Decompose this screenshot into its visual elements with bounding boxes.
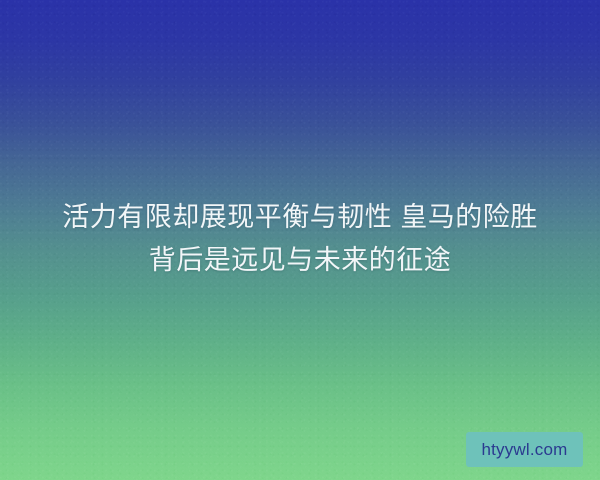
headline-title: 活力有限却展现平衡与韧性 皇马的险胜 背后是远见与未来的征途 bbox=[0, 196, 600, 282]
watermark-label: htyywl.com bbox=[481, 441, 567, 458]
watermark-badge: htyywl.com bbox=[466, 432, 583, 467]
headline-line-2: 背后是远见与未来的征途 bbox=[26, 239, 574, 282]
headline-line-1: 活力有限却展现平衡与韧性 皇马的险胜 bbox=[26, 196, 574, 239]
image-canvas: 活力有限却展现平衡与韧性 皇马的险胜 背后是远见与未来的征途 htyywl.co… bbox=[0, 0, 600, 480]
